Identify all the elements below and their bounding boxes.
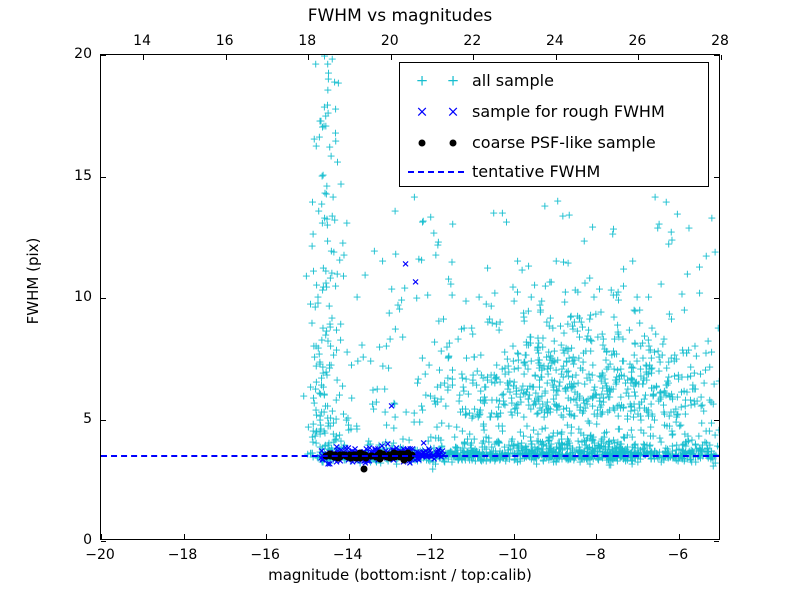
x-ticklabel-bottom: −10 [498,547,528,563]
legend-item-tentative-fwhm[interactable]: tentative FWHM [400,156,708,187]
x-tick-top [226,55,227,60]
x-tick-bottom [514,534,515,539]
y-tick [101,420,106,421]
data-point: + [468,328,477,339]
data-point: + [547,353,556,364]
x-tick-bottom [349,534,350,539]
data-point: + [423,290,432,301]
data-point: + [460,322,469,333]
data-point: + [557,427,566,438]
data-point: + [613,319,622,330]
data-point: + [418,216,427,227]
data-point: + [330,214,339,225]
data-point: + [444,274,453,285]
data-point: + [582,373,591,384]
data-point: + [561,342,570,353]
data-point: + [316,429,325,440]
data-point: + [610,349,619,360]
data-point: + [647,323,656,334]
data-point: + [336,334,345,345]
data-point: + [447,290,456,301]
data-point: + [338,381,347,392]
data-point: + [699,378,708,389]
data-point: + [347,359,356,370]
data-point: + [635,317,644,328]
data-point: + [527,355,536,366]
data-point: + [323,235,332,246]
data-point: + [715,376,719,387]
data-point: + [535,300,544,311]
data-point: + [498,426,507,437]
data-point: + [672,444,681,455]
data-point: + [656,357,665,368]
data-point: + [579,356,588,367]
y-tick [101,298,106,299]
data-point: + [563,381,572,392]
data-point: + [310,133,319,144]
data-point: + [357,339,366,350]
legend-marker-plus: + + [400,65,472,96]
data-point [361,465,368,472]
y-tick [101,177,106,178]
data-point: + [326,360,335,371]
data-point: + [607,284,616,295]
data-point: + [361,269,370,280]
x-ticklabel-top: 22 [463,33,481,49]
data-point: + [480,397,489,408]
data-point: + [695,288,704,299]
data-point: × [411,278,419,288]
x-axis-label: magnitude (bottom:isnt / top:calib) [0,566,800,584]
data-point: + [324,108,333,119]
data-point: + [545,320,554,331]
data-point: + [414,373,423,384]
y-tick [714,298,719,299]
data-point: + [410,191,419,202]
data-point: + [320,407,329,418]
data-point: + [677,386,686,397]
data-point: + [665,420,674,431]
data-point: + [391,248,400,259]
data-point: + [458,425,467,436]
data-point: + [470,352,479,363]
data-point: + [540,201,549,212]
data-point: + [670,350,679,361]
data-point: + [508,282,517,293]
plus-icon: + [416,73,429,88]
data-point: + [435,364,444,375]
data-point: + [589,292,598,303]
data-point: + [635,403,644,414]
data-point: + [636,424,645,435]
data-point: + [623,413,632,424]
data-point: + [664,238,673,249]
data-point: + [485,411,494,422]
data-point: + [434,433,443,444]
chart-legend: + + all sample × × sample for rough FWHM… [399,62,709,187]
x-tick-top [556,55,557,60]
data-point: + [307,317,316,328]
legend-marker-dashed-line [400,156,472,187]
legend-item-coarse-psf[interactable]: coarse PSF-like sample [400,127,708,158]
x-ticklabel-bottom: −8 [585,547,606,563]
data-point: + [662,197,671,208]
data-point: + [705,426,714,437]
data-point: + [342,217,351,228]
data-point: + [642,367,651,378]
data-point: + [308,228,317,239]
data-point: + [533,333,542,344]
filled-circle-icon [419,139,426,146]
x-tick-bottom [679,534,680,539]
x-tick-bottom [596,534,597,539]
data-point: × [384,440,392,450]
data-point: + [570,355,579,366]
x-ticklabel-bottom: −14 [333,547,363,563]
data-point: × [423,453,431,463]
data-point: + [369,403,378,414]
cross-icon: × [416,104,429,119]
data-point: + [331,128,340,139]
dashed-line-icon [408,171,464,173]
data-point: + [628,375,637,386]
data-point: + [670,370,679,381]
y-tick [714,541,719,542]
data-point: + [680,305,689,316]
data-point: + [495,377,504,388]
legend-item-all-sample[interactable]: + + all sample [400,65,708,96]
data-point: + [667,314,676,325]
data-point: + [578,321,587,332]
data-point: + [583,433,592,444]
x-ticklabel-top: 26 [629,33,647,49]
data-point: + [342,346,351,357]
data-point: + [325,141,334,152]
legend-item-rough-fwhm[interactable]: × × sample for rough FWHM [400,96,708,127]
y-ticklabel: 15 [74,168,92,184]
data-point: + [347,392,356,403]
data-point: + [442,342,451,353]
y-tick [714,177,719,178]
data-point: + [524,340,533,351]
data-point: + [659,333,668,344]
data-point: + [359,351,368,362]
data-point: + [391,205,400,216]
data-point: + [617,369,626,380]
data-point: + [667,226,676,237]
data-point: + [565,210,574,221]
data-point: + [618,333,627,344]
x-ticklabel-top: 20 [381,33,399,49]
data-point: + [675,421,684,432]
data-point: + [368,384,377,395]
x-ticklabel-bottom: −20 [85,547,115,563]
data-point: + [431,250,440,261]
data-point: + [609,223,618,234]
x-tick-top [143,55,144,60]
y-ticklabel: 20 [74,46,92,62]
data-point: + [711,246,719,257]
legend-marker-cross: × × [400,96,472,127]
data-point: + [333,156,342,167]
data-point: + [310,398,319,409]
data-point: + [599,333,608,344]
data-point: + [557,437,566,448]
data-point: × [326,460,334,470]
data-point: + [510,296,519,307]
x-ticklabel-top: 28 [711,33,729,49]
data-point: + [553,195,562,206]
x-ticklabel-top: 24 [546,33,564,49]
data-point: + [673,209,682,220]
data-point: + [701,347,710,358]
data-point: + [516,427,525,438]
figure-canvas: FWHM vs magnitudes magnitude (bottom:isn… [0,0,800,600]
data-point: + [414,253,423,264]
legend-label-tentative-fwhm: tentative FWHM [472,162,600,181]
data-point: + [318,322,327,333]
data-point: + [567,421,576,432]
x-ticklabel-top: 14 [133,33,151,49]
y-tick [101,541,106,542]
data-point: + [430,392,439,403]
data-point: + [614,411,623,422]
data-point: + [318,171,327,182]
data-point: + [537,423,546,434]
data-point: + [321,120,330,131]
data-point: + [573,310,582,321]
data-point: + [533,408,542,419]
data-point: + [677,289,686,300]
x-tick-bottom [266,534,267,539]
y-ticklabel: 5 [83,411,92,427]
data-point: + [313,298,322,309]
data-point: + [309,266,318,277]
data-point: + [544,441,553,452]
data-point: + [620,432,629,443]
data-point: + [605,405,614,416]
legend-marker-dot [400,127,472,158]
data-point: + [655,218,664,229]
data-point: + [530,395,539,406]
data-point: + [441,401,450,412]
y-tick [714,55,719,56]
data-point: + [433,239,442,250]
data-point: + [318,284,327,295]
data-point: + [688,383,697,394]
data-point: + [703,443,712,454]
chart-title: FWHM vs magnitudes [0,6,800,26]
data-point: + [597,434,606,445]
data-point: + [328,192,337,203]
data-point: + [412,292,421,303]
data-point: + [630,305,639,316]
x-ticklabel-top: 18 [298,33,316,49]
data-point: + [434,316,443,327]
data-point: + [619,264,628,275]
data-point: + [632,291,641,302]
data-point: + [461,295,470,306]
data-point: + [704,336,713,347]
data-point: + [684,222,693,233]
x-tick-top [308,55,309,60]
data-point: + [384,363,393,374]
data-point: + [309,341,318,352]
data-point: + [375,342,384,353]
data-point: + [609,384,618,395]
data-point: + [695,261,704,272]
data-point: + [580,235,589,246]
y-ticklabel: 0 [83,532,92,548]
data-point: + [699,406,708,417]
data-point: + [519,308,528,319]
data-point: + [483,372,492,383]
x-tick-bottom [184,534,185,539]
data-point: + [571,285,580,296]
data-point: + [500,346,509,357]
data-point: + [378,255,387,266]
data-point: + [490,288,499,299]
y-tick [714,420,719,421]
y-ticklabel: 10 [74,289,92,305]
data-point: + [519,368,528,379]
data-point: + [592,389,601,400]
data-point: + [410,407,419,418]
data-point: + [480,425,489,436]
data-point: + [524,261,533,272]
data-point: + [482,298,491,309]
data-point: + [683,268,692,279]
data-point: + [528,381,537,392]
data-point: + [311,59,320,70]
data-point: + [714,425,719,436]
plus-icon: + [447,73,460,88]
x-ticklabel-bottom: −18 [168,547,198,563]
data-point: + [657,279,666,290]
data-point: + [638,353,647,364]
data-point: + [651,191,660,202]
data-point: + [527,291,536,302]
data-point: + [393,300,402,311]
legend-label-all-sample: all sample [472,71,554,90]
data-point: + [473,366,482,377]
data-point: + [690,340,699,351]
legend-label-coarse-psf: coarse PSF-like sample [472,133,656,152]
data-point: + [304,421,313,432]
data-point: + [580,277,589,288]
data-point: + [334,78,343,89]
data-point: + [353,291,362,302]
data-point: + [320,55,329,61]
data-point: + [502,217,511,228]
data-point: + [652,382,661,393]
data-point: + [391,324,400,335]
data-point: + [511,402,520,413]
x-tick-top [721,55,722,60]
y-tick [101,55,106,56]
cross-icon: × [447,104,460,119]
data-point: + [588,221,597,232]
data-point: + [707,212,716,223]
data-point: + [498,364,507,375]
data-point: + [683,372,692,383]
data-point: + [591,308,600,319]
filled-circle-icon [450,139,457,146]
legend-label-rough-fwhm: sample for rough FWHM [472,102,665,121]
data-point: + [559,257,568,268]
x-ticklabel-bottom: −16 [250,547,280,563]
data-point: + [338,237,347,248]
data-point: + [684,436,693,447]
data-point: + [472,380,481,391]
data-point: + [424,359,433,370]
x-tick-bottom [101,534,102,539]
data-point: + [323,85,332,96]
x-tick-top [638,55,639,60]
data-point: + [448,219,457,230]
data-point: + [547,276,556,287]
data-point: + [447,256,456,267]
data-point: + [646,421,655,432]
x-tick-bottom [431,534,432,539]
data-point: + [325,300,334,311]
x-ticklabel-bottom: −12 [415,547,445,563]
data-point: + [308,241,317,252]
data-point: + [644,291,653,302]
tentative-fwhm-line [101,455,719,457]
data-point: + [492,319,501,330]
data-point: + [400,283,409,294]
data-point: + [714,323,719,334]
data-point: + [546,404,555,415]
x-tick-top [473,55,474,60]
data-point: + [306,381,315,392]
data-point: + [308,196,317,207]
data-point: + [512,383,521,394]
data-point: + [346,424,355,435]
data-point: + [339,270,348,281]
y-axis-label: FWHM (pix) [24,151,42,411]
data-point: + [467,413,476,424]
x-ticklabel-top: 16 [216,33,234,49]
data-point: + [582,334,591,345]
data-point: + [387,283,396,294]
data-point: + [382,420,391,431]
data-point: + [701,365,710,376]
data-point: + [583,415,592,426]
data-point: + [432,421,441,432]
data-point: + [380,383,389,394]
data-point: + [702,250,711,261]
data-point: + [391,411,400,422]
x-ticklabel-bottom: −6 [668,547,689,563]
data-point: + [335,254,344,265]
data-point: + [530,279,539,290]
data-point: × [387,402,395,412]
data-point: + [560,296,569,307]
data-point: + [628,255,637,266]
data-point: + [636,341,645,352]
data-point: + [453,443,462,454]
data-point: + [562,356,571,367]
data-point: + [319,382,328,393]
data-point: + [483,262,492,273]
data-point: × [401,260,409,270]
data-point: + [336,178,345,189]
data-point: + [324,74,333,85]
data-point: + [582,395,591,406]
x-tick-top [391,55,392,60]
